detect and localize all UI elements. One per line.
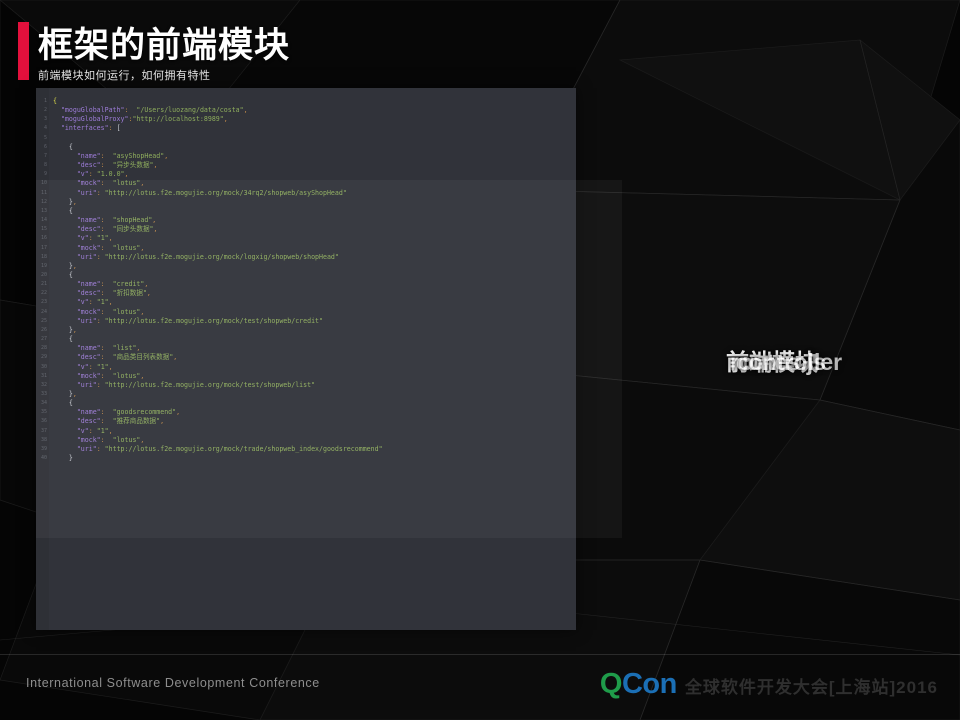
title-accent-bar xyxy=(18,22,29,80)
page-subtitle: 前端模块如何运行，如何拥有特性 xyxy=(38,69,211,83)
qcon-logo: Q Con 全球软件开发大会[上海站]2016 xyxy=(600,668,938,701)
footer-tagline: International Software Development Confe… xyxy=(26,676,320,690)
code-content[interactable]: { "moguGlobalPath": "/Users/luozang/data… xyxy=(49,88,576,630)
line-number-gutter: 1234567891011121314151617181920212223242… xyxy=(36,88,49,630)
logo-q-letter: Q xyxy=(600,668,622,701)
code-editor-window[interactable]: 1234567891011121314151617181920212223242… xyxy=(36,88,576,630)
logo-chinese-text: 全球软件开发大会[上海站]2016 xyxy=(685,673,938,698)
logo-con-letters: Con xyxy=(622,668,677,701)
footer-divider xyxy=(0,654,960,655)
caption-stack: 前端模块 routes.js controller xyxy=(726,346,956,380)
caption-layer-3: controller xyxy=(736,346,842,378)
page-title: 框架的前端模块 xyxy=(38,24,290,68)
presentation-slide: 框架的前端模块 前端模块如何运行，如何拥有特性 1234567891011121… xyxy=(0,0,960,720)
